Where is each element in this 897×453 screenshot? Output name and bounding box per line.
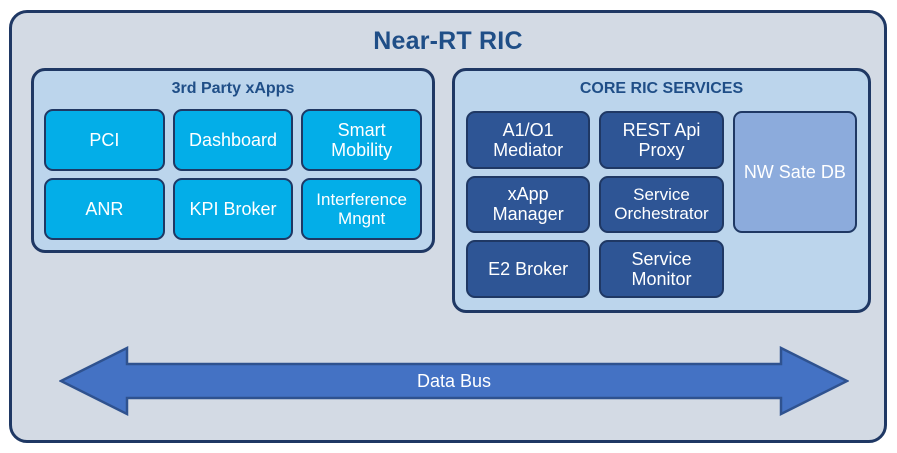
core-services-grid: A1/O1 Mediator REST Api Proxy NW Sate DB… [466,111,857,298]
third-party-xapps-title: 3rd Party xApps [34,80,432,98]
third-party-xapps-panel: 3rd Party xApps PCI Dashboard Smart Mobi… [31,68,435,253]
core-ric-services-panel: CORE RIC SERVICES A1/O1 Mediator REST Ap… [452,68,871,313]
core-node-service-orchestrator[interactable]: Service Orchestrator [599,176,723,234]
core-node-service-monitor[interactable]: Service Monitor [599,240,723,298]
data-bus: Data Bus [59,346,849,416]
core-node-xapp-manager[interactable]: xApp Manager [466,176,590,234]
double-headed-arrow-icon [59,346,849,416]
xapp-node-smart-mobility[interactable]: Smart Mobility [301,109,422,171]
core-node-e2-broker[interactable]: E2 Broker [466,240,590,298]
xapp-node-anr[interactable]: ANR [44,178,165,240]
core-ric-services-title: CORE RIC SERVICES [455,80,868,98]
xapp-node-pci[interactable]: PCI [44,109,165,171]
xapps-grid: PCI Dashboard Smart Mobility ANR KPI Bro… [44,109,422,240]
xapp-node-interference-mngnt[interactable]: Interference Mngnt [301,178,422,240]
core-node-rest-api-proxy[interactable]: REST Api Proxy [599,111,723,169]
core-node-a1-o1-mediator[interactable]: A1/O1 Mediator [466,111,590,169]
xapp-node-kpi-broker[interactable]: KPI Broker [173,178,294,240]
page-title: Near-RT RIC [12,27,884,56]
xapp-node-dashboard[interactable]: Dashboard [173,109,294,171]
core-node-nw-sate-db[interactable]: NW Sate DB [733,111,857,233]
near-rt-ric-container: Near-RT RIC 3rd Party xApps PCI Dashboar… [9,10,887,443]
